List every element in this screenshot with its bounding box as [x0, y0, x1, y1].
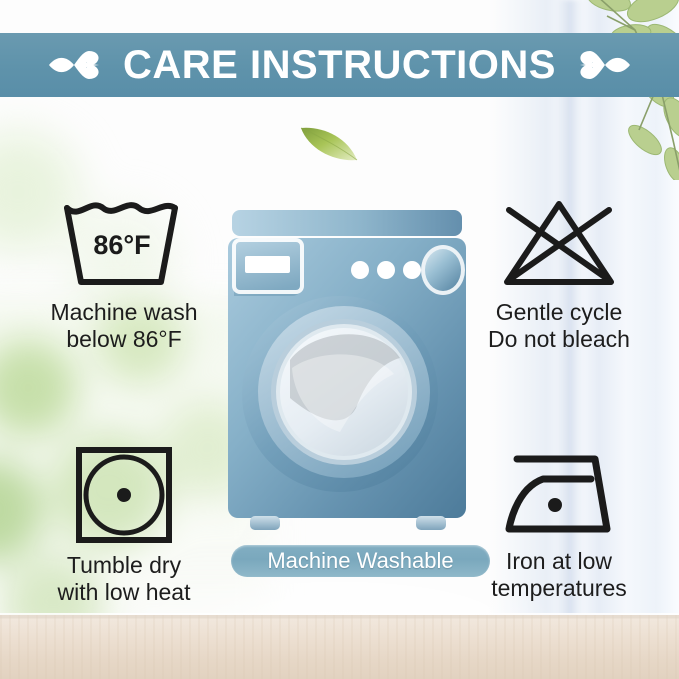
- indicator-light-3: [403, 261, 421, 279]
- washer-foot-left: [250, 516, 280, 530]
- floating-leaf-icon: [297, 122, 361, 166]
- care-item-label-do-not-bleach: Gentle cycle Do not bleach: [488, 299, 630, 353]
- washer-foot-right: [416, 516, 446, 530]
- page-title: CARE INSTRUCTIONS: [123, 45, 556, 85]
- care-item-do-not-bleach: Gentle cycle Do not bleach: [452, 196, 666, 353]
- detergent-slot: [245, 256, 290, 273]
- fleur-de-lis-ornament-right-icon: [574, 45, 632, 85]
- washing-machine-illustration: [228, 208, 466, 530]
- machine-washable-badge: Machine Washable: [231, 545, 490, 577]
- indicator-light-1: [351, 261, 369, 279]
- wash-temperature-value: 86°F: [93, 230, 150, 260]
- fleur-de-lis-ornament-left-icon: [47, 45, 105, 85]
- care-item-machine-wash: 86°F Machine wash below 86°F: [18, 196, 230, 353]
- triangle-crossed-icon: [495, 196, 623, 292]
- care-instructions-infographic: CARE INSTRUCTIONS: [0, 0, 679, 679]
- indicator-light-2: [377, 261, 395, 279]
- care-item-label-machine-wash: Machine wash below 86°F: [50, 299, 197, 353]
- banner: CARE INSTRUCTIONS: [0, 33, 679, 97]
- control-knob: [425, 249, 461, 291]
- care-item-iron: Iron at low temperatures: [452, 445, 666, 602]
- care-item-tumble-dry: Tumble dry with low heat: [20, 445, 228, 606]
- care-item-label-iron: Iron at low temperatures: [491, 548, 627, 602]
- wash-tub-icon: 86°F: [59, 196, 189, 292]
- iron-icon: [495, 445, 623, 541]
- background-wood-surface: [0, 615, 679, 679]
- tumble-dry-icon: [74, 445, 174, 545]
- care-item-label-tumble-dry: Tumble dry with low heat: [58, 552, 191, 606]
- machine-washable-badge-label: Machine Washable: [267, 550, 453, 572]
